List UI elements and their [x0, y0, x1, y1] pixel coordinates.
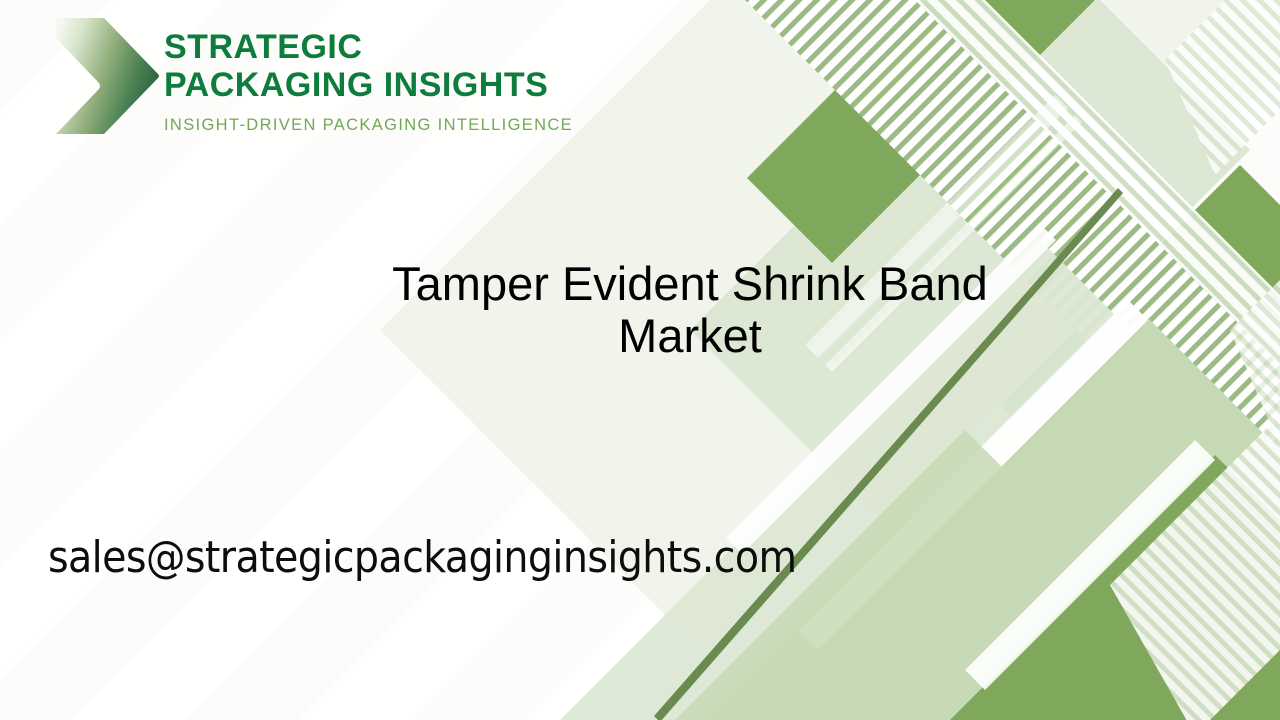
logo-wordmark: STRATEGIC PACKAGING INSIGHTS INSIGHT-DRI…	[164, 12, 584, 135]
logo-line-packaging-insights: PACKAGING INSIGHTS	[164, 66, 584, 104]
logo-tagline: INSIGHT-DRIVEN PACKAGING INTELLIGENCE	[164, 116, 584, 135]
brand-logo[interactable]: STRATEGIC PACKAGING INSIGHTS INSIGHT-DRI…	[52, 12, 572, 140]
page-title: Tamper Evident Shrink Band Market	[140, 258, 1240, 362]
contact-email[interactable]: sales@strategicpackaginginsights.com	[48, 530, 796, 586]
presentation-slide: STRATEGIC PACKAGING INSIGHTS INSIGHT-DRI…	[0, 0, 1280, 720]
logo-line-strategic: STRATEGIC	[164, 12, 584, 66]
chevron-arrow-mark-icon	[52, 12, 162, 140]
